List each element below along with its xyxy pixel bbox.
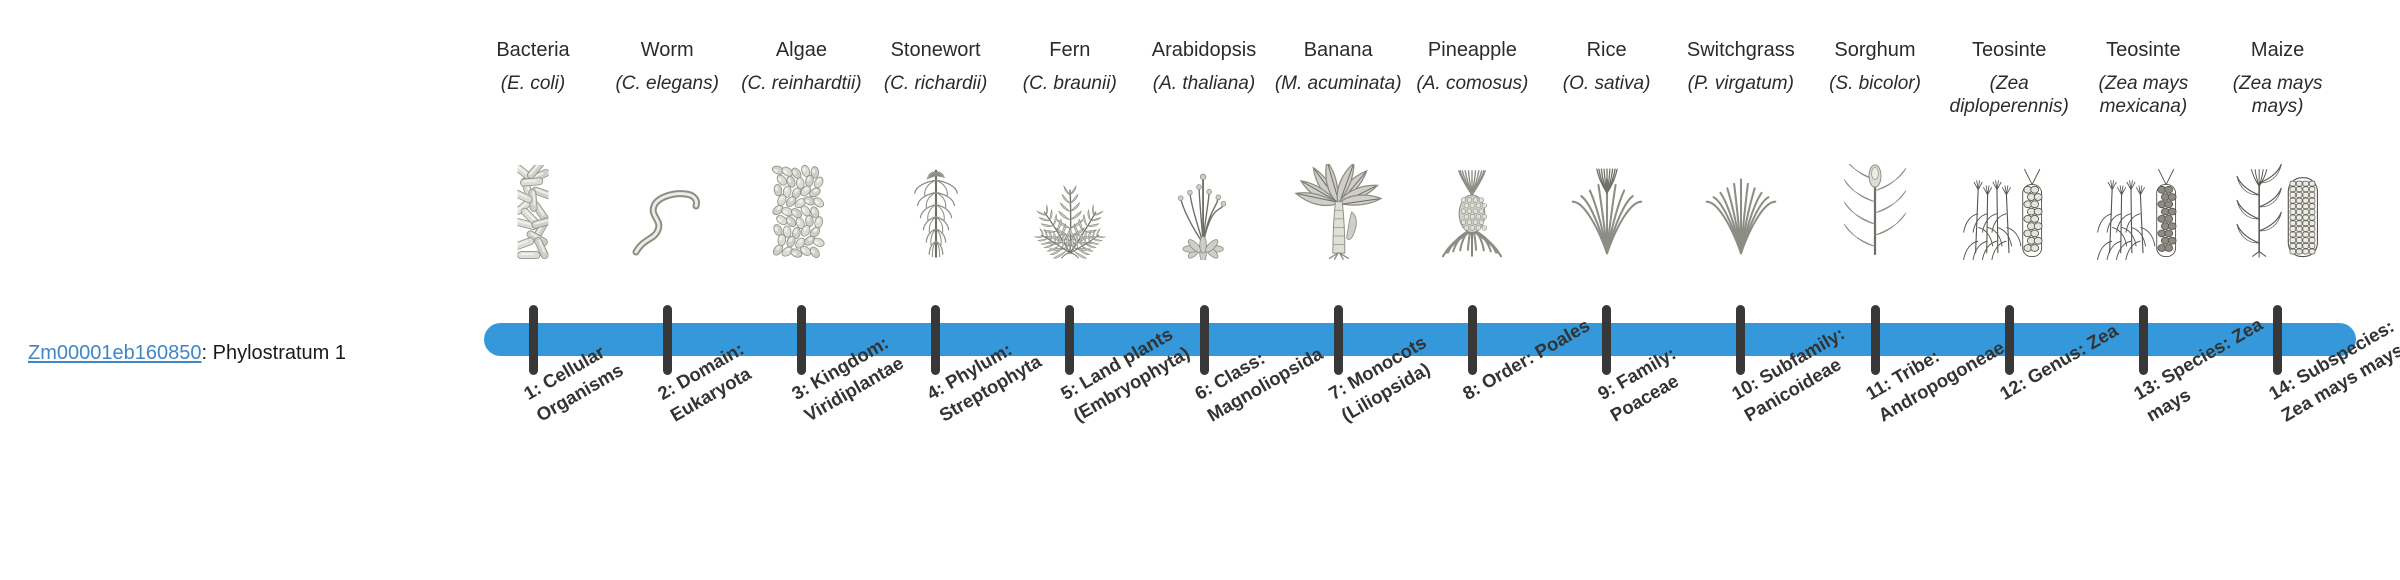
stratum-label[interactable]: 11: Tribe: Andropogoneae	[1861, 304, 2025, 427]
stratum-label[interactable]: 7: Monocots (Liliopsida)	[1324, 304, 1488, 427]
phylostratum-value: Phylostratum 1	[213, 342, 346, 364]
phylostratigraphy-figure: Zm00001eb160850: Phylostratum 1 Bacteria…	[0, 0, 2400, 580]
gene-label-separator: :	[201, 342, 212, 364]
stratum-label[interactable]: 6: Class: Magnoliopsida	[1190, 304, 1354, 427]
strata-label-group: 1: Cellular Organisms2: Domain: Eukaryot…	[484, 0, 2356, 580]
stratum-label[interactable]: 5: Land plants (Embryophyta)	[1056, 304, 1220, 427]
stratum-label[interactable]: 4: Phylum: Streptophyta	[922, 304, 1086, 427]
gene-phylostratum-label: Zm00001eb160850: Phylostratum 1	[28, 341, 346, 365]
gene-id-link[interactable]: Zm00001eb160850	[28, 342, 201, 364]
stratum-label[interactable]: 13: Species: Zea mays	[2129, 304, 2293, 427]
stratum-label[interactable]: 9: Family: Poaceae	[1593, 304, 1757, 427]
stratum-label[interactable]: 14: Subspecies: Zea mays mays	[2264, 304, 2400, 427]
stratum-label[interactable]: 3: Kingdom: Viridiplantae	[787, 304, 951, 427]
stratum-label[interactable]: 2: Domain: Eukaryota	[653, 304, 817, 427]
stratum-label[interactable]: 12: Genus: Zea	[1995, 304, 2146, 406]
stratum-label[interactable]: 8: Order: Poales	[1458, 304, 1609, 406]
stratum-label[interactable]: 1: Cellular Organisms	[519, 304, 683, 427]
stratum-label[interactable]: 10: Subfamily: Panicoideae	[1727, 304, 1891, 427]
